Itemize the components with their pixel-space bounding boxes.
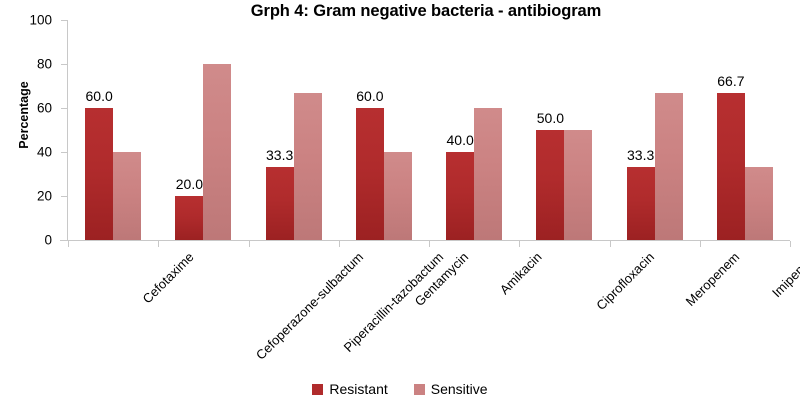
y-tick-label: 100 xyxy=(8,13,52,27)
bar-sensitive xyxy=(294,93,322,240)
x-tick-mark xyxy=(339,241,340,247)
bar-group: 60.0 xyxy=(339,20,429,240)
bar-sensitive xyxy=(384,152,412,240)
plot-area: 60.020.033.360.040.050.033.366.7 xyxy=(68,20,790,240)
x-category-label: Meropenem xyxy=(683,250,741,308)
bar-sensitive xyxy=(564,130,592,240)
bar-group: 40.0 xyxy=(429,20,519,240)
legend-label: Sensitive xyxy=(431,382,488,396)
legend-label: Resistant xyxy=(329,382,387,396)
bar-group: 66.7 xyxy=(700,20,790,240)
bar-resistant xyxy=(356,108,384,240)
bar-sensitive xyxy=(474,108,502,240)
x-tick-mark xyxy=(68,241,69,247)
x-tick-mark xyxy=(158,241,159,247)
bar-value-label: 50.0 xyxy=(522,111,578,125)
bar-sensitive xyxy=(113,152,141,240)
x-category-label: Amikacin xyxy=(498,250,544,296)
bar-group: 60.0 xyxy=(68,20,158,240)
chart-legend: ResistantSensitive xyxy=(0,382,800,396)
bar-resistant xyxy=(536,130,564,240)
bar-group: 50.0 xyxy=(519,20,609,240)
y-tick-label: 60 xyxy=(8,101,52,115)
bar-sensitive xyxy=(655,93,683,240)
legend-swatch-icon xyxy=(414,384,425,395)
bar-resistant xyxy=(627,167,655,240)
x-tick-mark xyxy=(249,241,250,247)
legend-item: Sensitive xyxy=(414,382,488,396)
x-tick-mark xyxy=(519,241,520,247)
x-category-label: Imipenem xyxy=(770,250,800,300)
y-tick-label: 0 xyxy=(8,233,52,247)
bar-sensitive xyxy=(203,64,231,240)
bar-resistant xyxy=(175,196,203,240)
x-tick-mark xyxy=(429,241,430,247)
bar-resistant xyxy=(85,108,113,240)
bar-resistant xyxy=(266,167,294,240)
y-tick-label: 80 xyxy=(8,57,52,71)
bar-group: 33.3 xyxy=(249,20,339,240)
bar-resistant xyxy=(446,152,474,240)
y-tick-label: 40 xyxy=(8,145,52,159)
chart-title: Grph 4: Gram negative bacteria - antibio… xyxy=(0,2,800,21)
bar-value-label: 60.0 xyxy=(71,89,127,103)
x-category-label: Ciprofloxacin xyxy=(594,250,656,312)
x-tick-mark xyxy=(790,241,791,247)
legend-item: Resistant xyxy=(312,382,387,396)
bar-group: 20.0 xyxy=(158,20,248,240)
x-category-label: Cefotaxime xyxy=(140,250,196,306)
x-tick-mark xyxy=(610,241,611,247)
y-tick-label: 20 xyxy=(8,189,52,203)
bar-chart: Grph 4: Gram negative bacteria - antibio… xyxy=(0,0,800,403)
bar-group: 33.3 xyxy=(610,20,700,240)
x-axis-line xyxy=(60,240,790,241)
bar-value-label: 66.7 xyxy=(703,74,759,88)
x-tick-mark xyxy=(700,241,701,247)
legend-swatch-icon xyxy=(312,384,323,395)
bar-sensitive xyxy=(745,167,773,240)
bar-resistant xyxy=(717,93,745,240)
bar-value-label: 60.0 xyxy=(342,89,398,103)
